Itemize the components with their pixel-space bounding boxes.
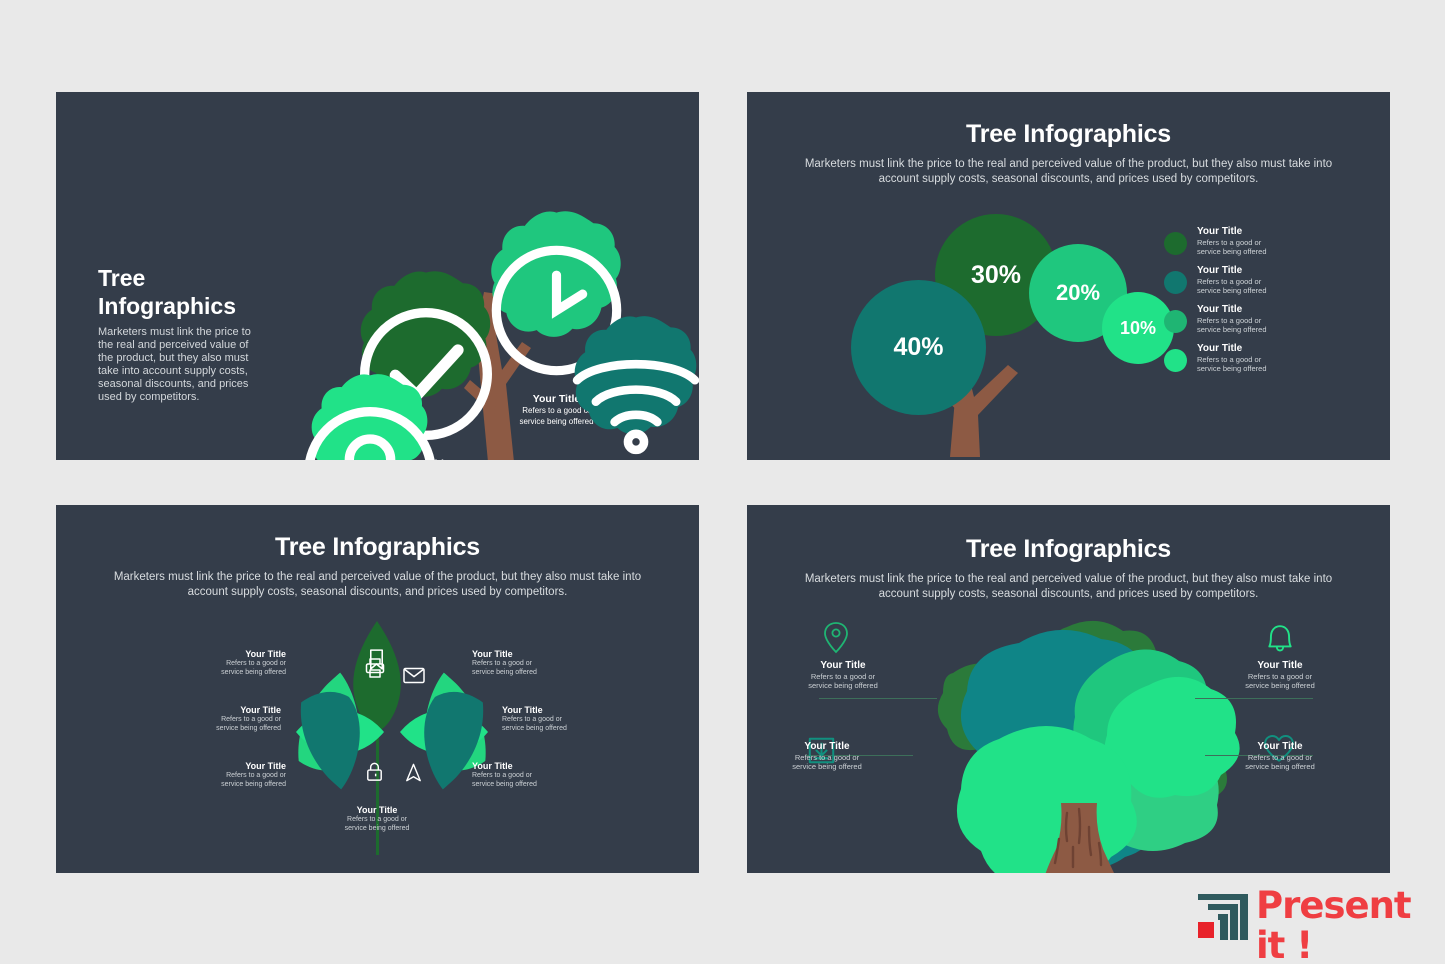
callout-desc-1: Refers to a good or xyxy=(767,753,887,762)
leaf-label-title: Your Title xyxy=(472,761,582,772)
callout-label-left-top: Your Title Refers to a good or service b… xyxy=(783,660,903,690)
slide1-title: Tree Infographics xyxy=(98,264,273,320)
leaf-label-title: Your Title xyxy=(176,761,286,772)
poster-canvas: Tree Infographics Marketers must link th… xyxy=(0,0,1445,964)
leaf-label-desc-1: Refers to a good or xyxy=(176,772,286,781)
legend-desc-2: service being offered xyxy=(1197,286,1267,295)
leaf-label-title: Your Title xyxy=(472,649,582,660)
slide2-title: Tree Infographics xyxy=(747,120,1390,149)
callout-label-left-bottom: Your Title Refers to a good or service b… xyxy=(767,741,887,771)
legend-color-dot xyxy=(1164,232,1187,255)
leaf-label-envelope: Your Title Refers to a good or service b… xyxy=(472,649,582,677)
bubble-label: 30% xyxy=(971,261,1021,290)
callout-title: Your Title xyxy=(1220,660,1340,672)
slide3-description: Marketers must link the price to the rea… xyxy=(106,570,649,600)
leaf-label-desc-1: Refers to a good or xyxy=(472,660,582,669)
legend-title: Your Title xyxy=(1197,265,1267,277)
bell-icon xyxy=(1265,623,1295,655)
slide2-description: Marketers must link the price to the rea… xyxy=(797,157,1340,187)
callout-label-right-top: Your Title Refers to a good or service b… xyxy=(1220,660,1340,690)
leaf-label-desc-2: service being offered xyxy=(472,669,582,678)
legend-desc-1: Refers to a good or xyxy=(1197,355,1267,364)
legend-item[interactable]: Your Title Refers to a good or service b… xyxy=(1164,226,1354,265)
foliage-blob-3[interactable]: Your Title Refers to a good or service b… xyxy=(561,315,699,439)
leaf-label-desc-1: Refers to a good or xyxy=(317,816,437,825)
wifi-icon xyxy=(561,339,699,459)
slide4-title: Tree Infographics xyxy=(747,535,1390,564)
callout-title: Your Title xyxy=(767,741,887,753)
leaf-label-desc-1: Refers to a good or xyxy=(176,660,286,669)
callout-desc-2: service being offered xyxy=(1220,681,1340,690)
callout-desc-1: Refers to a good or xyxy=(783,672,903,681)
foliage-blob-4[interactable]: Your Title Refers to a good or service b… xyxy=(290,373,450,460)
present-it-logo-mark xyxy=(1196,892,1250,942)
leaf-label-title: Your Title xyxy=(176,649,286,660)
legend-title: Your Title xyxy=(1197,226,1267,238)
slide-3[interactable]: Tree Infographics Marketers must link th… xyxy=(56,505,699,873)
leaf-label-upload: Your Title Refers to a good or service b… xyxy=(166,705,281,733)
leaf-label-title: Your Title xyxy=(502,705,617,716)
brand-logo[interactable]: Present it ! MAKE QUICK & EASY PRESENTAT… xyxy=(1196,888,1428,950)
callout-desc-2: service being offered xyxy=(1220,762,1340,771)
legend-desc-1: Refers to a good or xyxy=(1197,316,1267,325)
callout-title: Your Title xyxy=(783,660,903,672)
legend-title: Your Title xyxy=(1197,343,1267,355)
callout-desc-1: Refers to a good or xyxy=(1220,753,1340,762)
callout-desc-2: service being offered xyxy=(767,762,887,771)
leaf-label-bottom: Your Title Refers to a good or service b… xyxy=(317,805,437,833)
callout-title: Your Title xyxy=(1220,741,1340,753)
callout-line-left-top xyxy=(819,698,937,699)
legend-color-dot xyxy=(1164,271,1187,294)
location-pin-icon xyxy=(823,621,849,655)
callout-desc-2: service being offered xyxy=(783,681,903,690)
leaf-label-title: Your Title xyxy=(317,805,437,816)
slide-2[interactable]: Tree Infographics Marketers must link th… xyxy=(747,92,1390,460)
legend-item[interactable]: Your Title Refers to a good or service b… xyxy=(1164,304,1354,343)
navigation-icon xyxy=(402,761,425,784)
envelope-icon xyxy=(401,662,427,688)
logo-text-block: Present it ! MAKE QUICK & EASY PRESENTAT… xyxy=(1256,886,1428,964)
leaf-label-desc-2: service being offered xyxy=(472,781,582,790)
leaf-label-desc-2: service being offered xyxy=(166,725,281,734)
leaf-label-desc-1: Refers to a good or xyxy=(166,716,281,725)
leaf-label-desc-2: service being offered xyxy=(317,825,437,834)
legend-item[interactable]: Your Title Refers to a good or service b… xyxy=(1164,343,1354,382)
bubble-label: 20% xyxy=(1056,280,1100,306)
leaf-label-desc-2: service being offered xyxy=(176,669,286,678)
bubble-label: 10% xyxy=(1120,318,1156,339)
leaf-label-desc-2: service being offered xyxy=(502,725,617,734)
slide2-legend: Your Title Refers to a good or service b… xyxy=(1164,226,1354,382)
legend-desc-2: service being offered xyxy=(1197,325,1267,334)
legend-color-dot xyxy=(1164,310,1187,333)
legend-item[interactable]: Your Title Refers to a good or service b… xyxy=(1164,265,1354,304)
callout-label-right-bottom: Your Title Refers to a good or service b… xyxy=(1220,741,1340,771)
user-icon xyxy=(290,393,450,460)
leaf-label-desc-1: Refers to a good or xyxy=(502,716,617,725)
callout-desc-1: Refers to a good or xyxy=(1220,672,1340,681)
callout-line-right-top xyxy=(1195,698,1313,699)
legend-desc-2: service being offered xyxy=(1197,364,1267,373)
legend-desc-2: service being offered xyxy=(1197,247,1267,256)
bubble-label: 40% xyxy=(893,333,943,362)
bubble-40-percent[interactable]: 40% xyxy=(851,280,986,415)
leaf-label-search: Your Title Refers to a good or service b… xyxy=(502,705,617,733)
legend-color-dot xyxy=(1164,349,1187,372)
tree-illustration xyxy=(907,615,1257,873)
logo-name: Present it ! xyxy=(1256,886,1428,964)
leaf-label-printer: Your Title Refers to a good or service b… xyxy=(176,649,286,677)
leaf-label-lock: Your Title Refers to a good or service b… xyxy=(176,761,286,789)
leaf-label-desc-2: service being offered xyxy=(176,781,286,790)
slide3-title: Tree Infographics xyxy=(56,533,699,562)
lock-icon xyxy=(363,760,386,783)
slide-4[interactable]: Tree Infographics Marketers must link th… xyxy=(747,505,1390,873)
slide-1[interactable]: Tree Infographics Marketers must link th… xyxy=(56,92,699,460)
slide1-title-line1: Tree xyxy=(98,264,273,292)
legend-desc-1: Refers to a good or xyxy=(1197,277,1267,286)
printer-icon xyxy=(363,656,387,680)
slide1-body-text: Marketers must link the price to the rea… xyxy=(98,326,258,404)
legend-desc-1: Refers to a good or xyxy=(1197,238,1267,247)
slide1-title-line2: Infographics xyxy=(98,292,273,320)
legend-title: Your Title xyxy=(1197,304,1267,316)
slide4-description: Marketers must link the price to the rea… xyxy=(797,572,1340,602)
leaf-label-desc-1: Refers to a good or xyxy=(472,772,582,781)
leaf-label-navigation: Your Title Refers to a good or service b… xyxy=(472,761,582,789)
leaf-label-title: Your Title xyxy=(166,705,281,716)
